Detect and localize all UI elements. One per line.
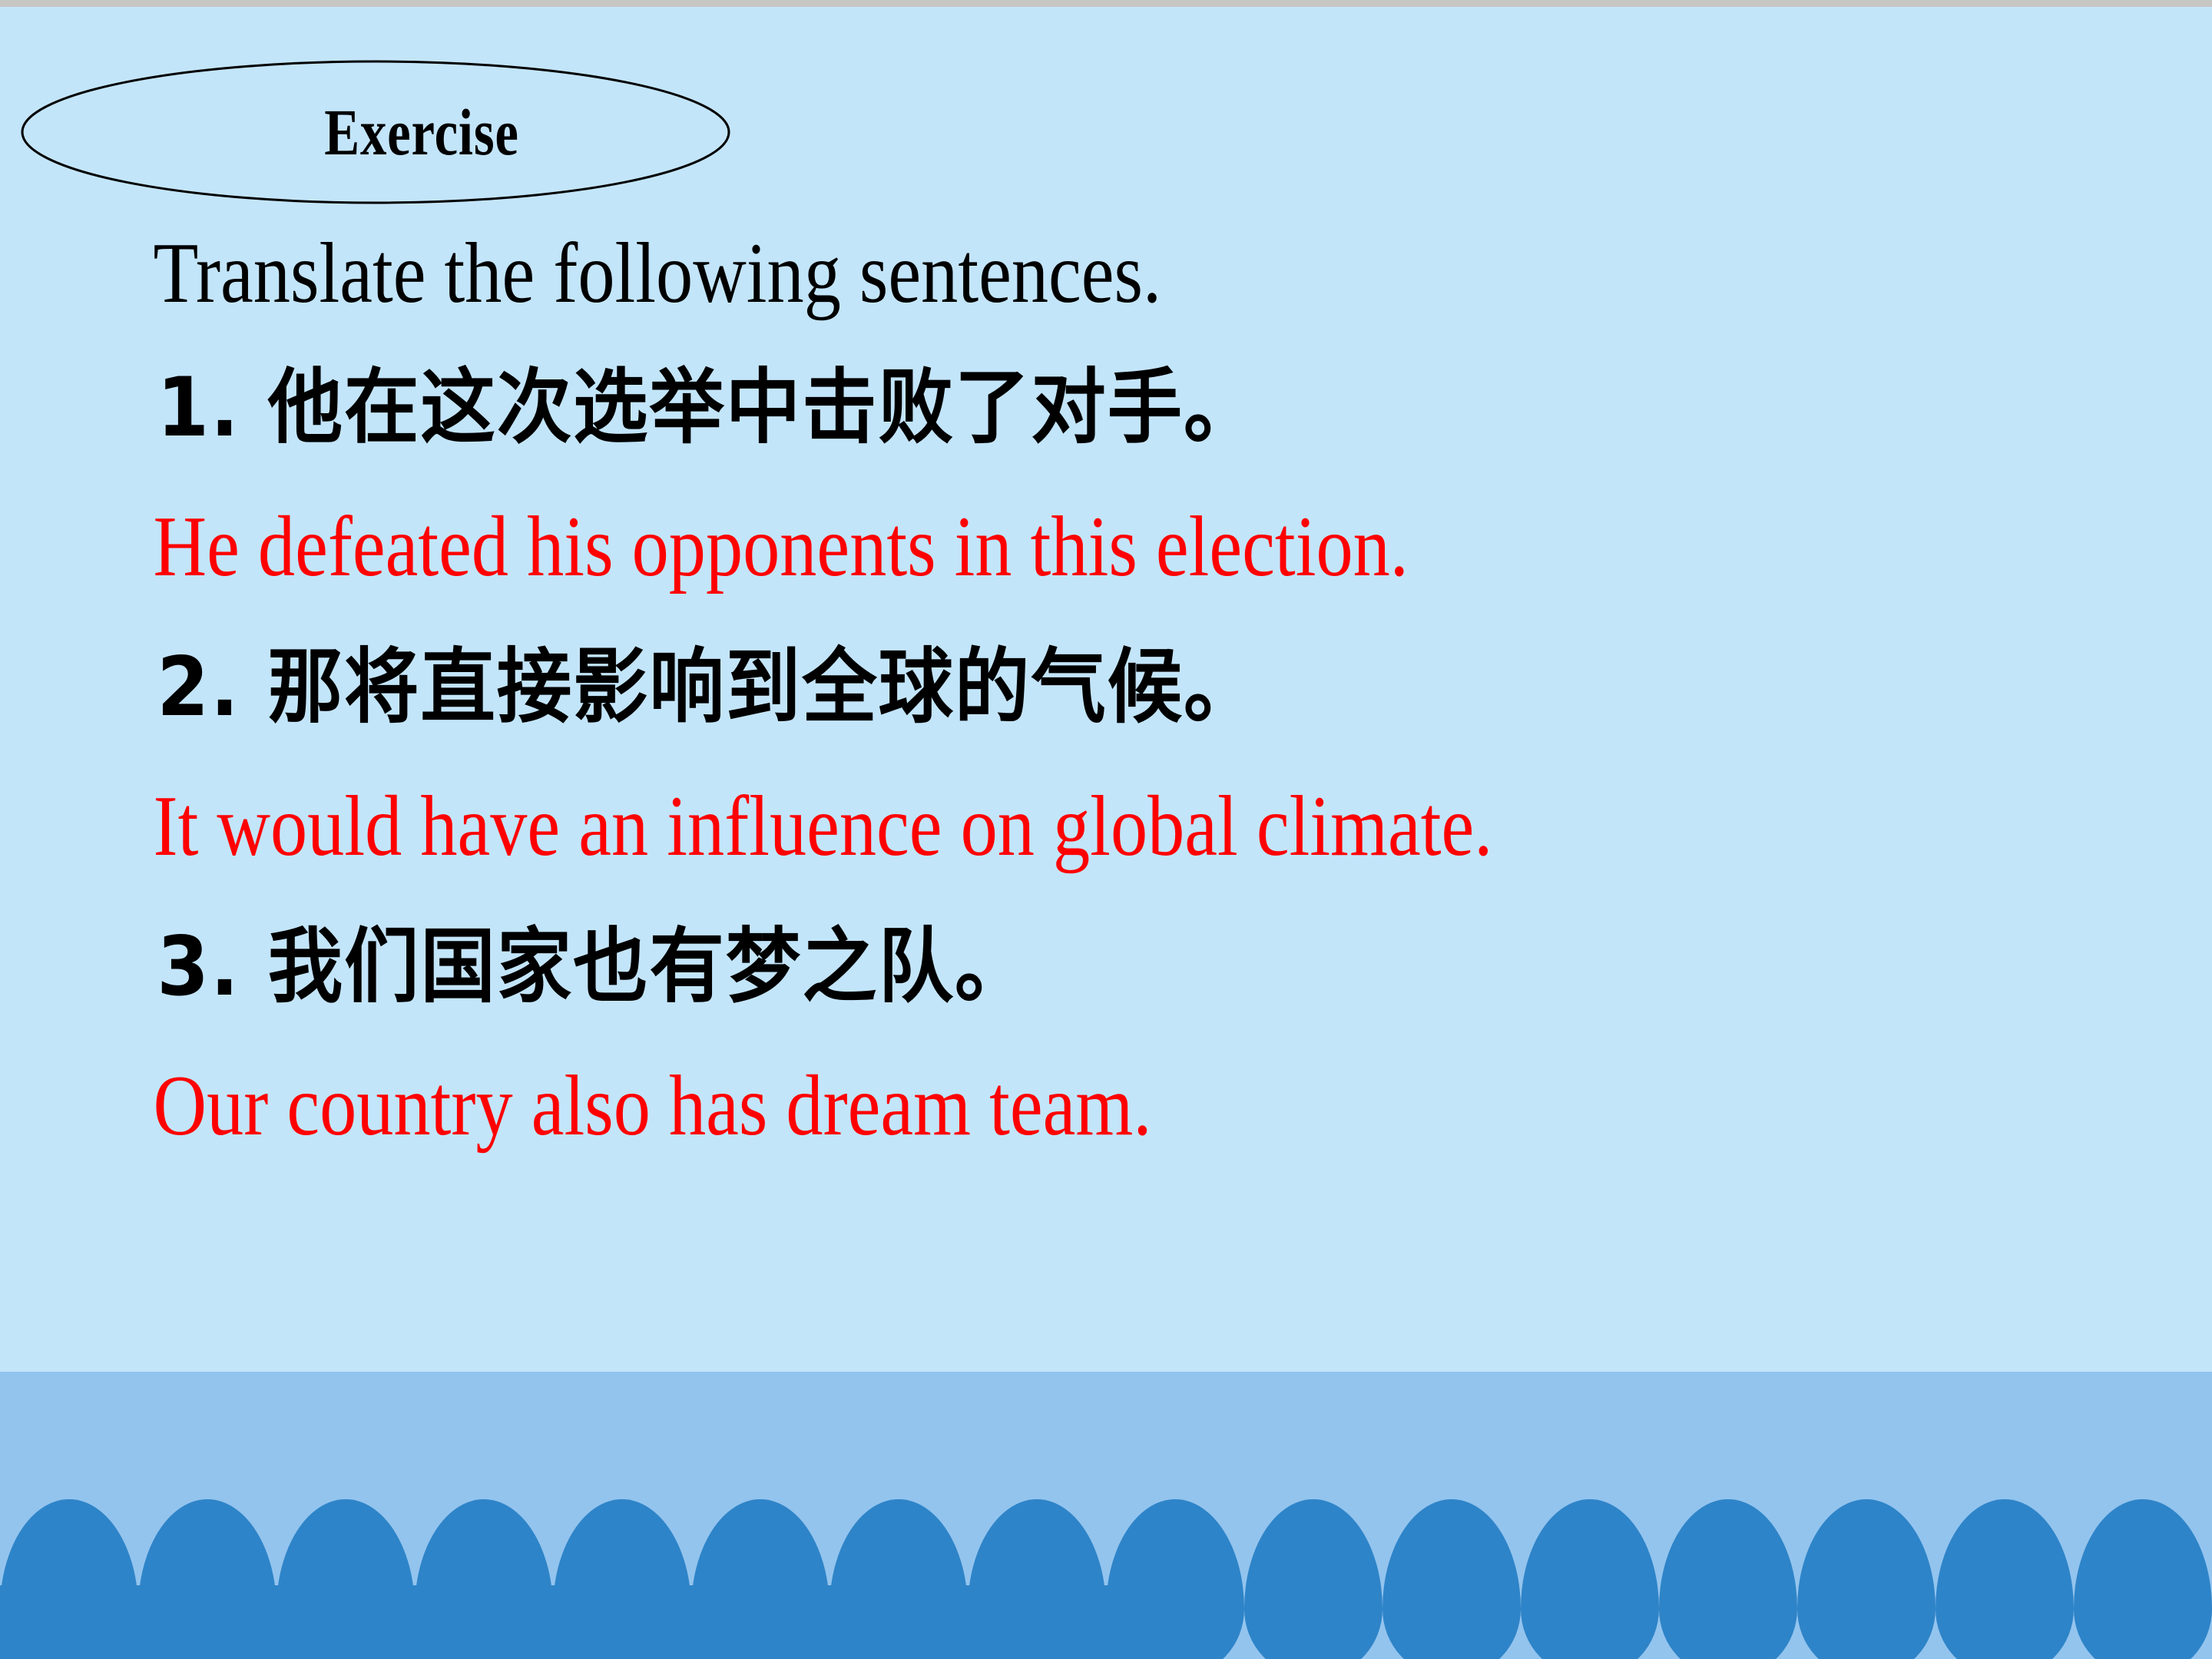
prompt-line-1: 1. 他在这次选举中击败了对手。 bbox=[0, 367, 2035, 449]
spacer bbox=[0, 1008, 2212, 1063]
spacer bbox=[0, 590, 2212, 647]
arch-row-top bbox=[0, 1499, 2212, 1585]
answer-line-3: Our country also has dream team. bbox=[0, 1063, 1902, 1149]
prompt-line-3: 3. 我们国家也有梦之队。 bbox=[0, 926, 2035, 1008]
exercise-body: Translate the following sentences. 1. 他在… bbox=[0, 230, 2212, 1149]
spacer bbox=[0, 869, 2212, 926]
spacer bbox=[0, 449, 2212, 504]
answer-line-1: He defeated his opponents in this electi… bbox=[0, 504, 1902, 590]
page-title: Exercise bbox=[91, 58, 661, 206]
arch-row-bottom bbox=[0, 1585, 2212, 1659]
title-badge: Exercise bbox=[20, 58, 731, 206]
bottom-decoration-band bbox=[0, 1372, 2212, 1659]
spacer bbox=[0, 728, 2212, 783]
answer-line-2: It would have an influence on global cli… bbox=[0, 783, 1902, 869]
top-grey-strip bbox=[0, 0, 2212, 7]
slide-canvas: Exercise Translate the following sentenc… bbox=[0, 0, 2212, 1659]
prompt-line-2: 2. 那将直接影响到全球的气候。 bbox=[0, 647, 2035, 728]
instruction-line: Translate the following sentences. bbox=[0, 230, 1902, 316]
